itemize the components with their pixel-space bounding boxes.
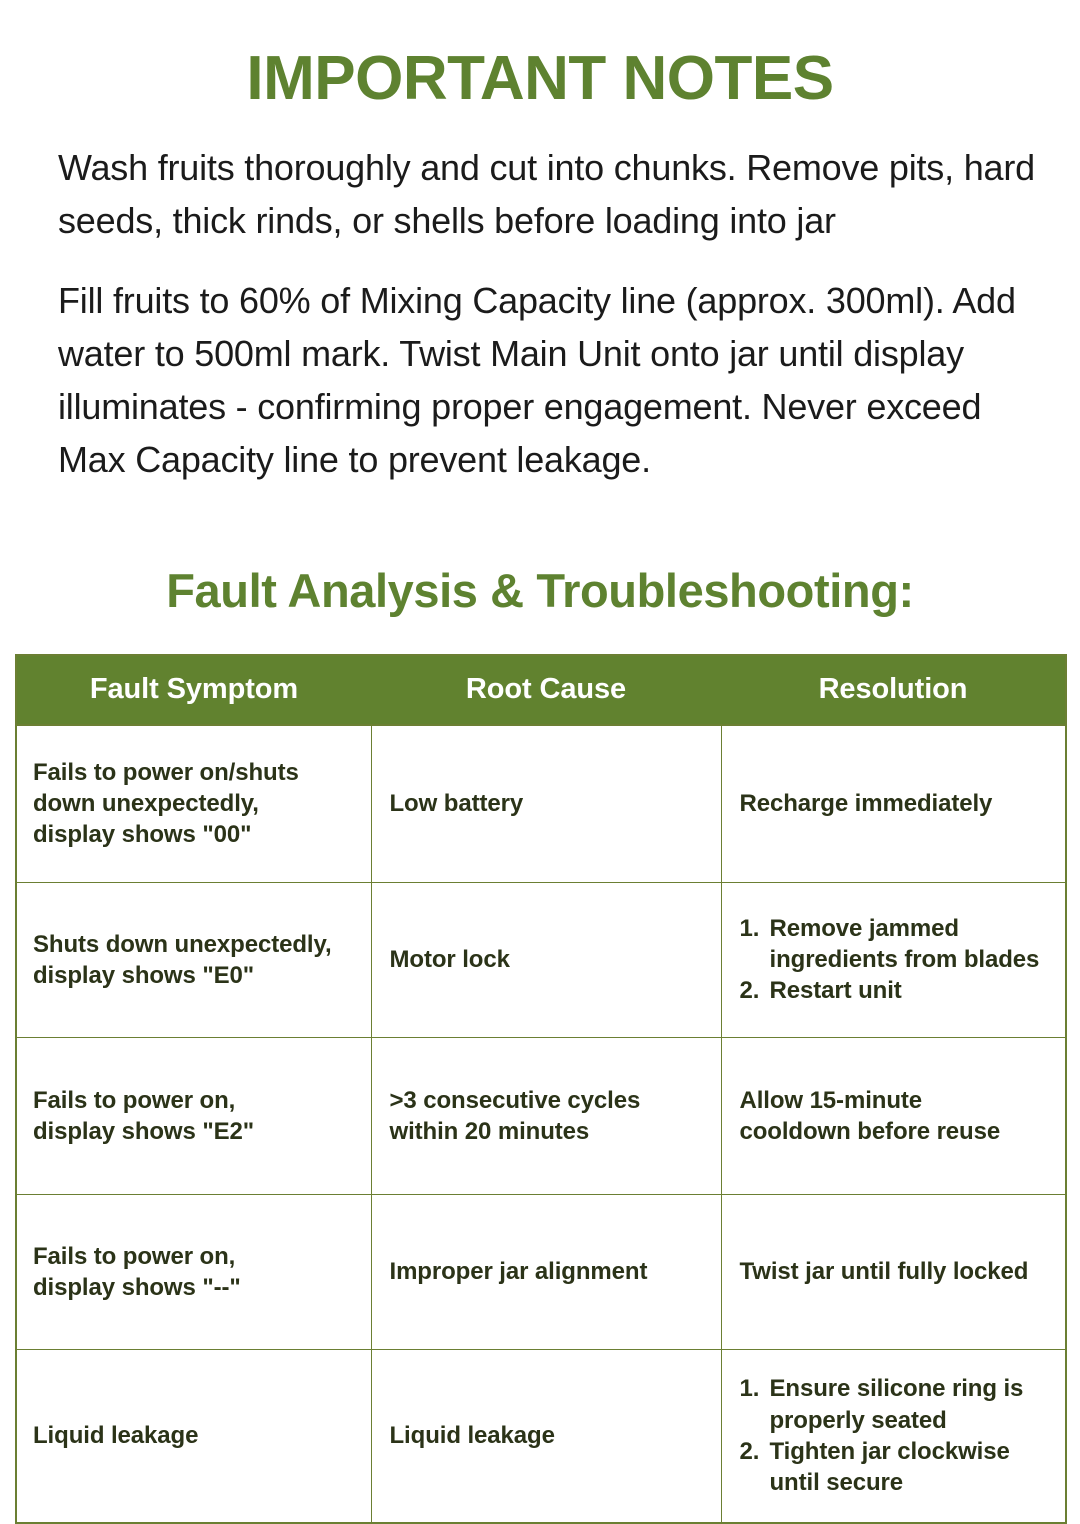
symptom-line: Fails to power on/shuts bbox=[33, 757, 357, 788]
resolution-step: 2. Restart unit bbox=[740, 975, 1052, 1006]
symptom-line: Liquid leakage bbox=[33, 1420, 357, 1451]
column-header-resolution: Resolution bbox=[721, 655, 1066, 725]
cause-line: >3 consecutive cycles bbox=[390, 1085, 707, 1116]
step-number: 2. bbox=[740, 1436, 760, 1467]
resolution-step: 2. Tighten jar clockwise until secure bbox=[740, 1436, 1052, 1498]
cell-root-cause: Liquid leakage bbox=[371, 1349, 721, 1523]
note-paragraph-1: Wash fruits thoroughly and cut into chun… bbox=[58, 141, 1036, 248]
cell-resolution: Twist jar until fully locked bbox=[721, 1194, 1066, 1349]
cell-fault-symptom: Fails to power on, display shows "E2" bbox=[16, 1037, 371, 1194]
fault-table: Fault Symptom Root Cause Resolution Fail… bbox=[15, 654, 1067, 1524]
fault-table-container: Fault Symptom Root Cause Resolution Fail… bbox=[0, 618, 1080, 1524]
resolution-step-list: 1. Ensure silicone ring is properly seat… bbox=[740, 1373, 1052, 1498]
cell-resolution: Recharge immediately bbox=[721, 725, 1066, 883]
troubleshooting-heading: Fault Analysis & Troubleshooting: bbox=[0, 505, 1080, 618]
cell-fault-symptom: Shuts down unexpectedly, display shows "… bbox=[16, 882, 371, 1037]
resolution-step-list: 1. Remove jammed ingredients from blades… bbox=[740, 913, 1052, 1007]
step-number: 2. bbox=[740, 975, 760, 1006]
step-text: Restart unit bbox=[770, 977, 902, 1004]
column-header-root-cause: Root Cause bbox=[371, 655, 721, 725]
cell-fault-symptom: Liquid leakage bbox=[16, 1349, 371, 1523]
symptom-line: Fails to power on, bbox=[33, 1085, 357, 1116]
symptom-line: display shows "E2" bbox=[33, 1116, 357, 1147]
symptom-line: down unexpectedly, bbox=[33, 788, 357, 819]
resolution-line: Allow 15-minute bbox=[740, 1085, 1052, 1116]
document-page: IMPORTANT NOTES Wash fruits thoroughly a… bbox=[0, 0, 1080, 1450]
table-row: Liquid leakage Liquid leakage 1. Ensure … bbox=[16, 1349, 1066, 1523]
cell-fault-symptom: Fails to power on, display shows "--" bbox=[16, 1194, 371, 1349]
cell-resolution: Allow 15-minute cooldown before reuse bbox=[721, 1037, 1066, 1194]
cause-line: within 20 minutes bbox=[390, 1116, 707, 1147]
cell-resolution: 1. Ensure silicone ring is properly seat… bbox=[721, 1349, 1066, 1523]
symptom-line: display shows "00" bbox=[33, 819, 357, 850]
resolution-step: 1. Remove jammed ingredients from blades bbox=[740, 913, 1052, 975]
table-body: Fails to power on/shuts down unexpectedl… bbox=[16, 725, 1066, 1523]
table-row: Shuts down unexpectedly, display shows "… bbox=[16, 882, 1066, 1037]
cell-root-cause: Improper jar alignment bbox=[371, 1194, 721, 1349]
table-row: Fails to power on/shuts down unexpectedl… bbox=[16, 725, 1066, 883]
table-header-row: Fault Symptom Root Cause Resolution bbox=[16, 655, 1066, 725]
notes-section: Wash fruits thoroughly and cut into chun… bbox=[0, 111, 1080, 487]
page-title: IMPORTANT NOTES bbox=[0, 0, 1080, 111]
cell-resolution: 1. Remove jammed ingredients from blades… bbox=[721, 882, 1066, 1037]
symptom-line: Shuts down unexpectedly, bbox=[33, 929, 357, 960]
step-number: 1. bbox=[740, 1373, 760, 1404]
cell-fault-symptom: Fails to power on/shuts down unexpectedl… bbox=[16, 725, 371, 883]
table-header: Fault Symptom Root Cause Resolution bbox=[16, 655, 1066, 725]
resolution-line: cooldown before reuse bbox=[740, 1116, 1052, 1147]
table-row: Fails to power on, display shows "E2" >3… bbox=[16, 1037, 1066, 1194]
note-paragraph-2: Fill fruits to 60% of Mixing Capacity li… bbox=[58, 274, 1036, 487]
table-row: Fails to power on, display shows "--" Im… bbox=[16, 1194, 1066, 1349]
step-text: Tighten jar clockwise until secure bbox=[770, 1438, 1010, 1496]
cell-root-cause: Low battery bbox=[371, 725, 721, 883]
resolution-step: 1. Ensure silicone ring is properly seat… bbox=[740, 1373, 1052, 1435]
step-number: 1. bbox=[740, 913, 760, 944]
cell-root-cause: Motor lock bbox=[371, 882, 721, 1037]
symptom-line: Fails to power on, bbox=[33, 1241, 357, 1272]
step-text: Remove jammed ingredients from blades bbox=[770, 915, 1040, 973]
symptom-line: display shows "--" bbox=[33, 1272, 357, 1303]
cell-root-cause: >3 consecutive cycles within 20 minutes bbox=[371, 1037, 721, 1194]
symptom-line: display shows "E0" bbox=[33, 960, 357, 991]
step-text: Ensure silicone ring is properly seated bbox=[770, 1375, 1024, 1433]
column-header-fault-symptom: Fault Symptom bbox=[16, 655, 371, 725]
